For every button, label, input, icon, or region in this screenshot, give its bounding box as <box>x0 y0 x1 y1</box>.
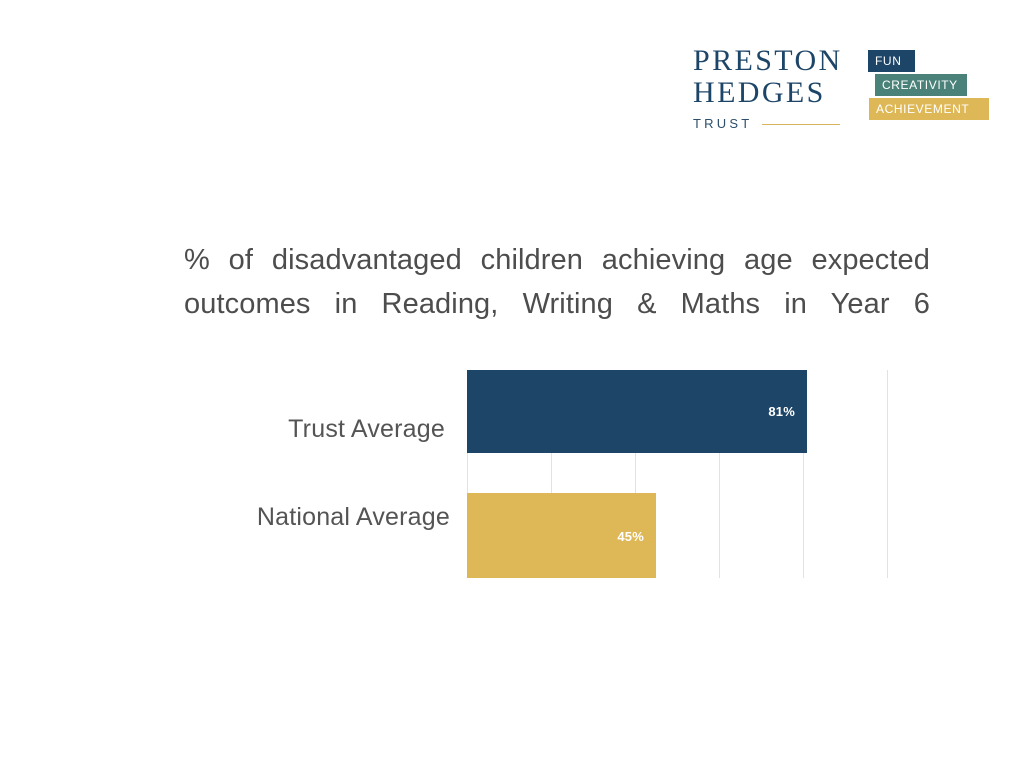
logo-wordmark: PRESTON HEDGES TRUST <box>693 44 853 131</box>
logo-line-trust: TRUST <box>693 116 752 131</box>
logo-trust-row: TRUST <box>693 116 853 131</box>
preston-hedges-trust-logo: PRESTON HEDGES TRUST FUN CREATIVITY ACHI… <box>693 44 993 140</box>
bar-row-national-average: 45% <box>467 493 887 578</box>
bar-trust-average[interactable]: 81% <box>467 370 807 453</box>
bar-value-national-average: 45% <box>617 529 644 544</box>
logo-line-hedges: HEDGES <box>693 76 853 110</box>
slide-canvas: PRESTON HEDGES TRUST FUN CREATIVITY ACHI… <box>0 0 1024 768</box>
logo-block-fun: FUN <box>868 50 915 72</box>
logo-block-achievement: ACHIEVEMENT <box>869 98 989 120</box>
logo-value-blocks: FUN CREATIVITY ACHIEVEMENT <box>868 50 993 120</box>
plot-area: 81% 45% <box>467 370 887 578</box>
bar-row-trust-average: 81% <box>467 370 887 453</box>
category-label-trust-average: Trust Average <box>170 415 445 444</box>
logo-block-creativity: CREATIVITY <box>875 74 967 96</box>
gridline-100 <box>887 370 888 578</box>
bar-value-trust-average: 81% <box>768 404 795 419</box>
logo-line-preston: PRESTON <box>693 44 853 78</box>
bar-chart: Trust Average National Average 81% 45% <box>170 362 910 592</box>
category-label-national-average: National Average <box>170 503 450 532</box>
slide-title: % of disadvantaged children achieving ag… <box>184 238 930 370</box>
bar-national-average[interactable]: 45% <box>467 493 656 578</box>
logo-rule-divider <box>762 124 840 125</box>
